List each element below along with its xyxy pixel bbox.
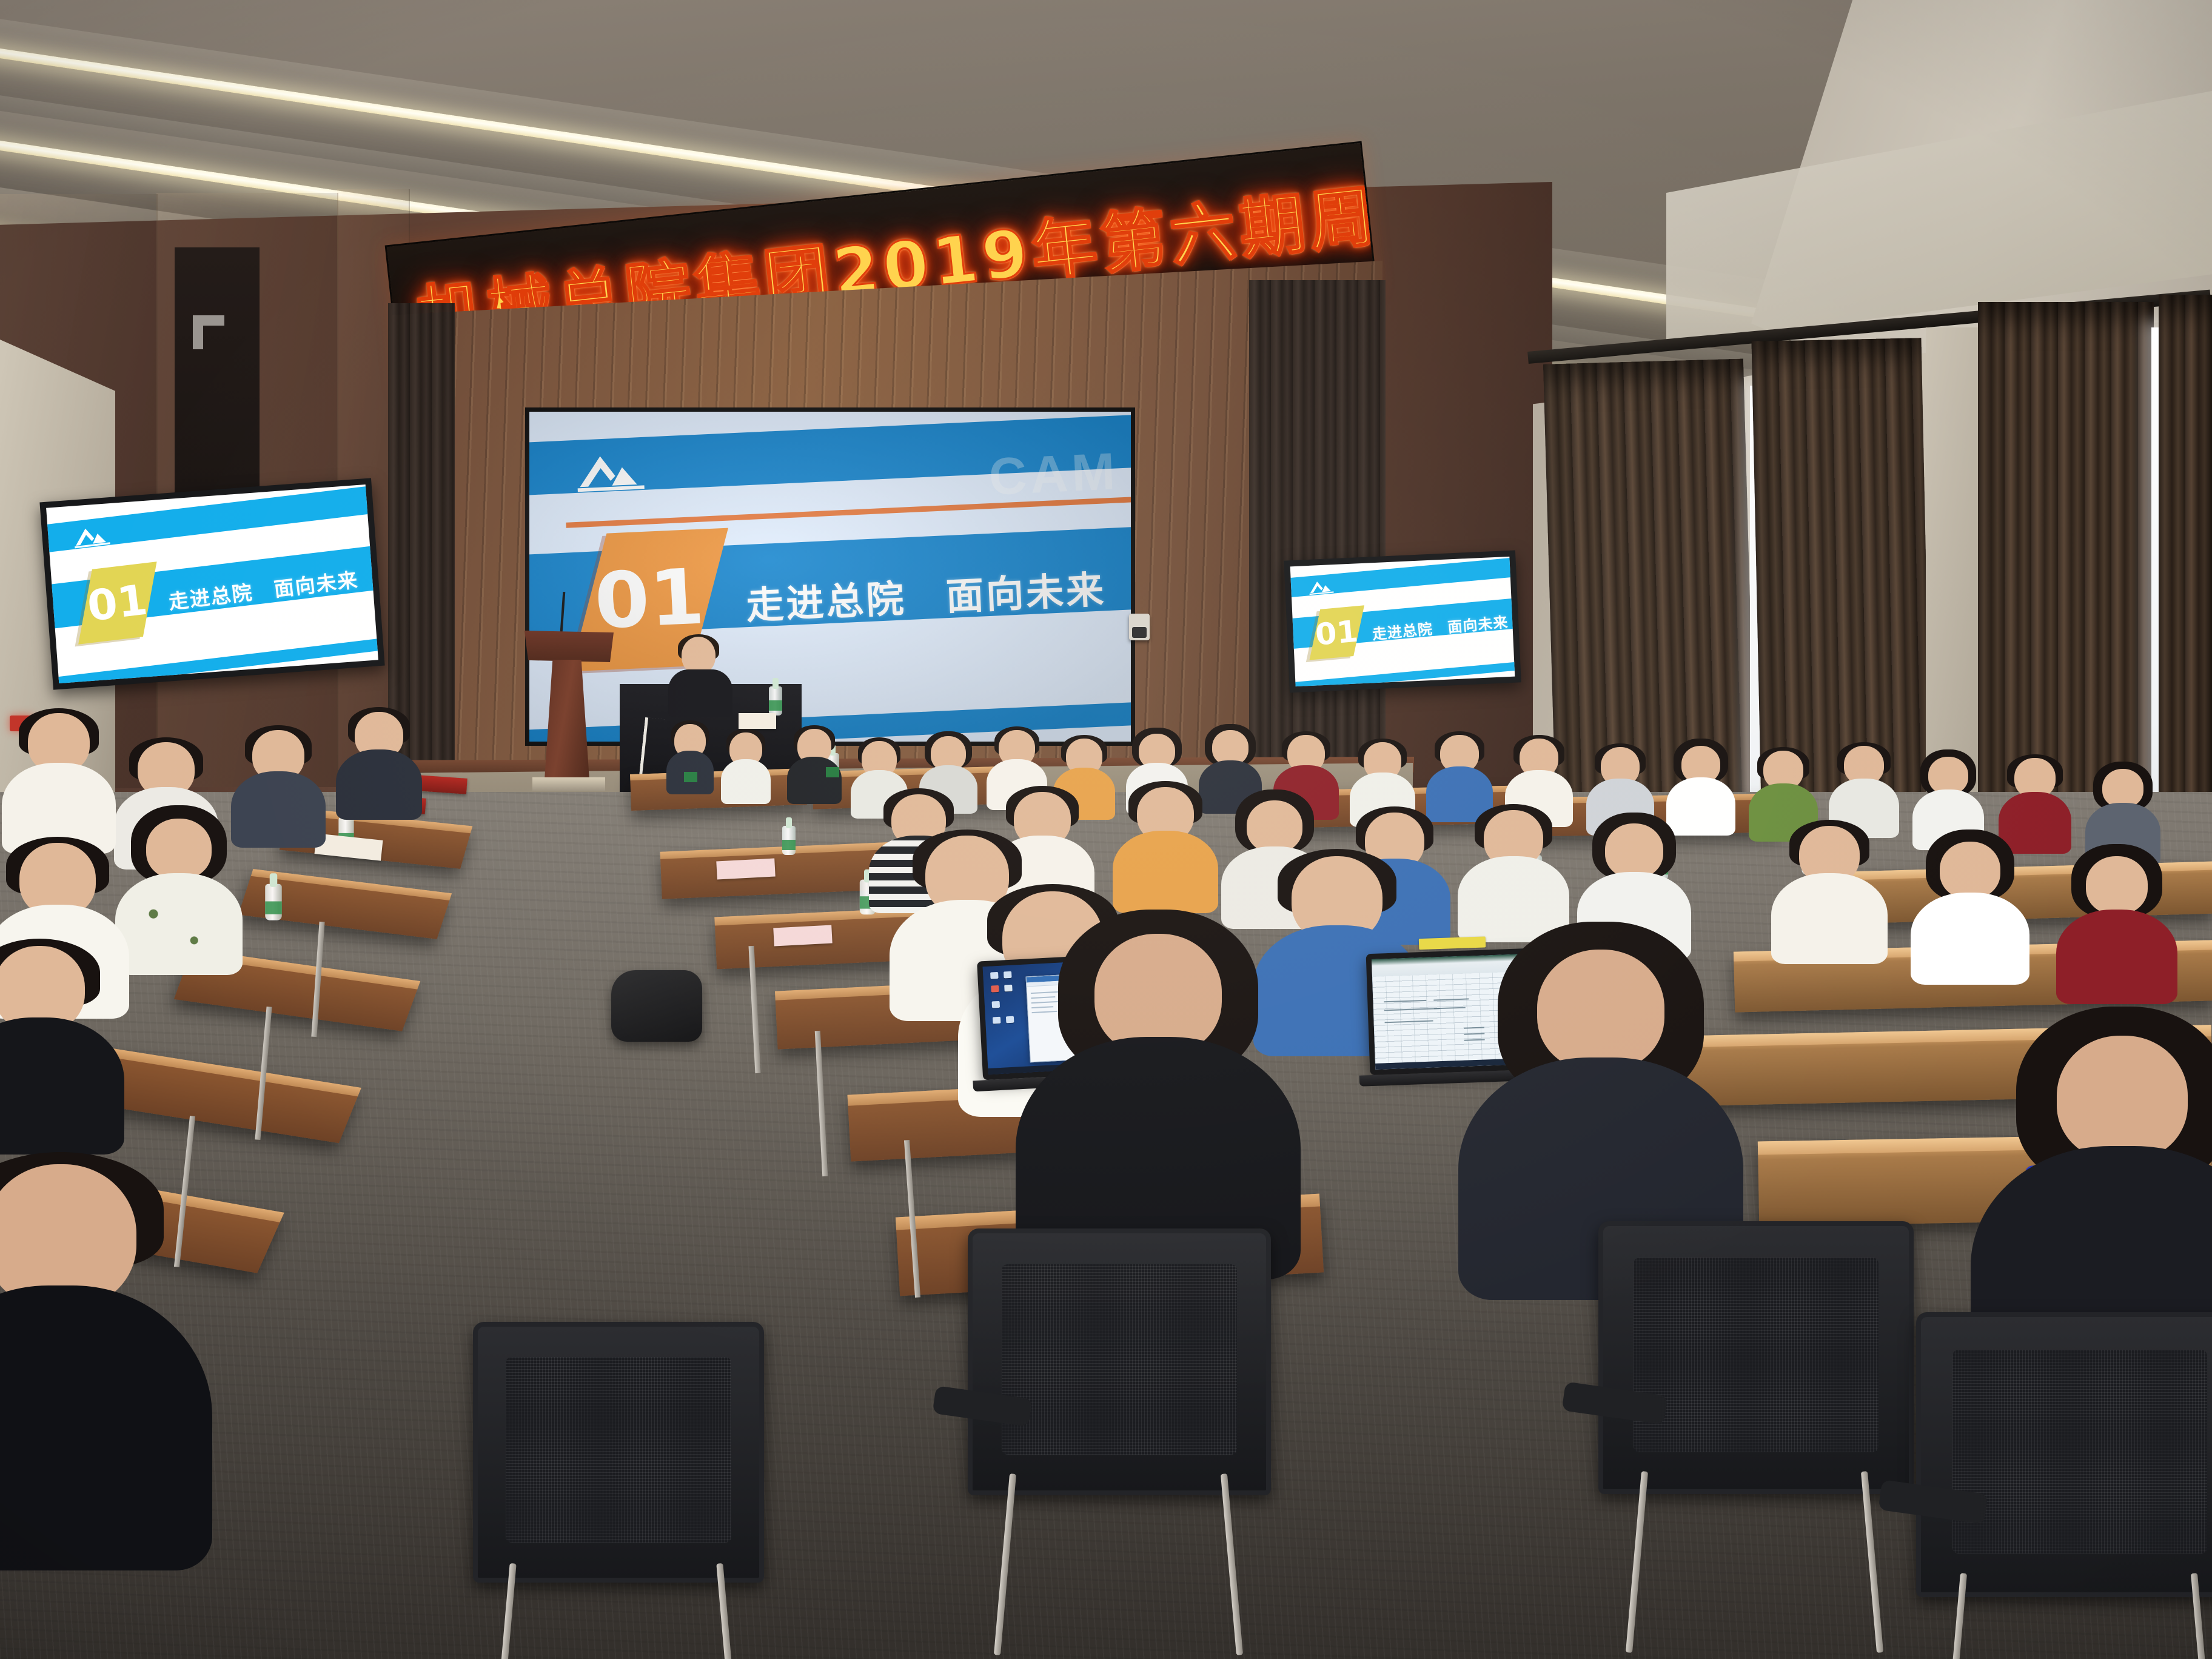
audience-member [1031,910,1285,1273]
water-bottle [769,678,782,716]
name-card [739,713,776,729]
right-lcd-slide: 01 走进总院 面向未来 [1290,557,1515,686]
left-wall-lcd: 01 走进总院 面向未来 [39,478,384,689]
conference-hall-photo: 机械总院集团2019年第六期周五大讲堂 CAM 01 走 [0,0,2212,1659]
black-backpack [611,970,702,1042]
office-chair[interactable] [473,1322,764,1583]
slide-number: 01 [1315,616,1360,649]
left-lcd-slide: 01 走进总院 面向未来 [46,484,378,683]
audience-member [1915,749,1982,843]
audience-member [0,939,115,1145]
audience-member [1463,804,1564,937]
slide-watermark: CAM [988,442,1120,508]
white-paper [773,925,832,947]
cam-mountain-logo [568,447,654,494]
audience-member [340,707,418,816]
projection-screen: CAM 01 走进总院 面向未来 [525,407,1135,746]
office-chair[interactable] [1916,1312,2212,1597]
slide-number: 01 [85,579,150,628]
cam-mountain-logo [68,522,115,550]
audience-member [0,1152,194,1577]
podium [523,631,614,796]
right-wall-lcd: 01 走进总院 面向未来 [1284,550,1521,692]
presenter [667,637,734,709]
audience-member [235,725,321,844]
slide-number-badge: 01 [78,562,156,645]
stage-curtain-right [1249,280,1386,789]
slide-number: 01 [593,559,706,640]
audience-member [2062,844,2172,991]
office-chair[interactable] [968,1228,1271,1495]
audience-member [121,805,236,962]
wall-bracket-mark [193,315,224,349]
audience-member [788,725,840,802]
ceiling-camera-icon [1129,614,1150,640]
cam-mountain-logo [1305,578,1337,596]
slide-number-badge: 01 [1310,605,1365,660]
audience-member [1777,820,1882,959]
audience-member [722,729,770,802]
office-chair[interactable] [1598,1221,1914,1494]
audience-member [7,708,110,849]
audience-member [1916,829,2024,973]
water-bottle [265,873,282,920]
white-paper [716,859,775,880]
desk-row [630,768,807,811]
water-bottle [782,817,796,855]
